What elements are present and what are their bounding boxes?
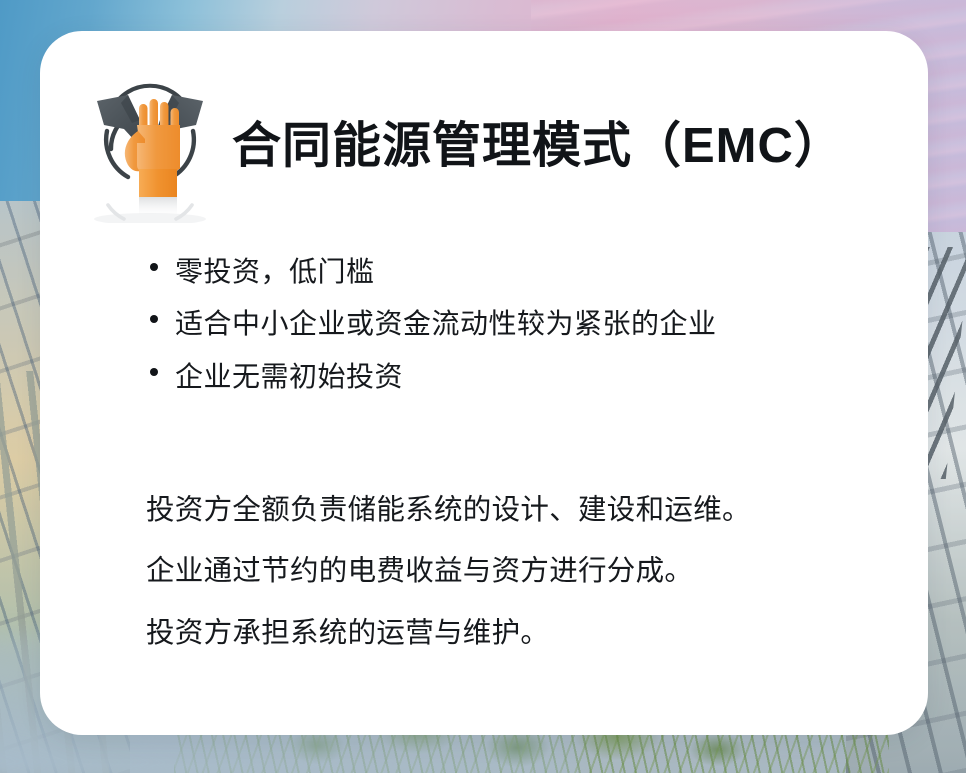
list-item: 适合中小企业或资金流动性较为紧张的企业 (150, 308, 717, 339)
card-header: 合同能源管理模式（EMC） (88, 73, 844, 223)
page-title: 合同能源管理模式（EMC） (232, 106, 844, 177)
description-line: 投资方承担系统的运营与维护。 (146, 618, 751, 649)
description-line: 企业通过节约的电费收益与资方进行分成。 (146, 556, 751, 587)
bullet-label: 适合中小企业或资金流动性较为紧张的企业 (175, 308, 717, 339)
bullet-dot-icon (150, 315, 158, 323)
bullet-dot-icon (150, 263, 158, 271)
list-item: 零投资，低门槛 (150, 256, 717, 287)
description-line: 投资方全额负责储能系统的设计、建设和运维。 (146, 495, 751, 526)
bullet-label: 零投资，低门槛 (175, 256, 375, 287)
list-item: 企业无需初始投资 (150, 361, 717, 392)
content-card: 合同能源管理模式（EMC） 零投资，低门槛 适合中小企业或资金流动性较为紧张的企… (40, 31, 928, 735)
description-block: 投资方全额负责储能系统的设计、建设和运维。 企业通过节约的电费收益与资方进行分成… (146, 495, 751, 679)
bullet-dot-icon (150, 368, 158, 376)
feature-bullet-list: 零投资，低门槛 适合中小企业或资金流动性较为紧张的企业 企业无需初始投资 (150, 256, 717, 413)
bullet-label: 企业无需初始投资 (175, 361, 403, 392)
teamwork-hands-icon (88, 73, 212, 223)
